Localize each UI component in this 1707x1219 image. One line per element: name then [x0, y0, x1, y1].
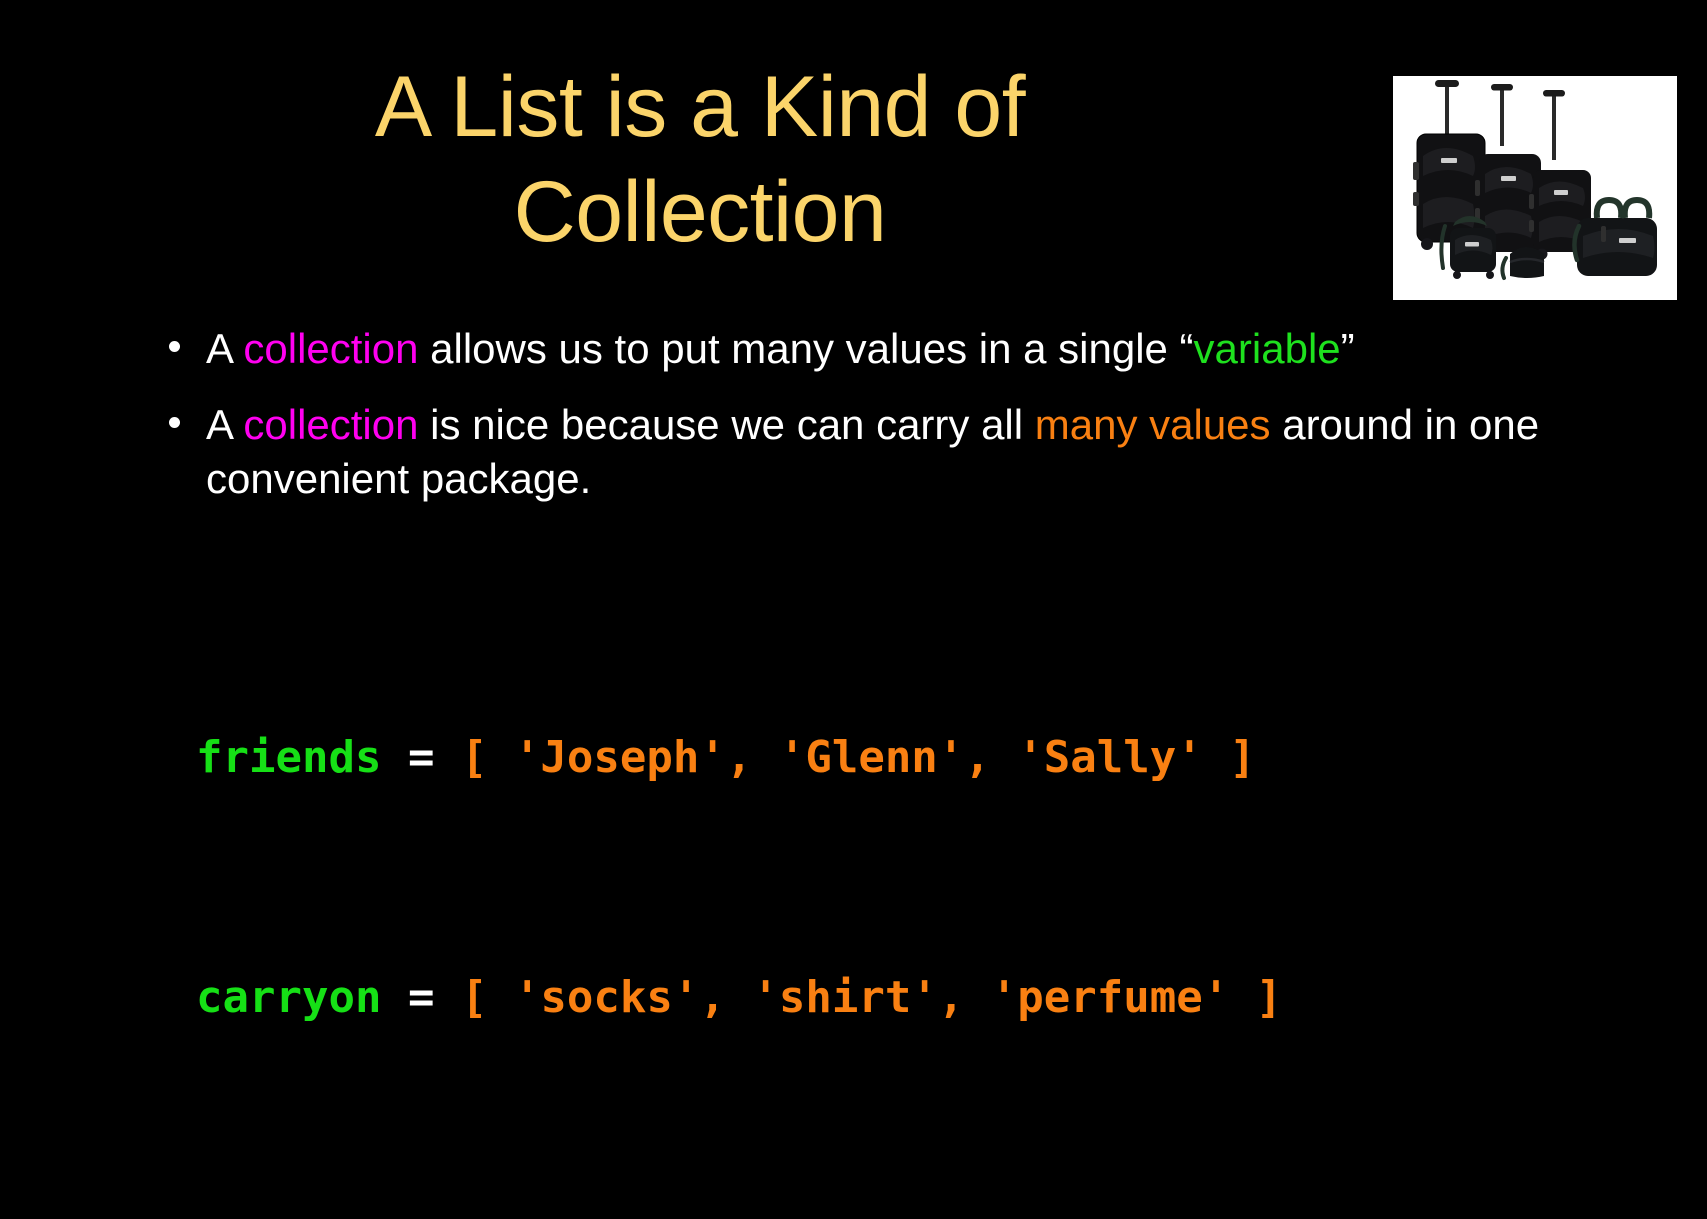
code-variable-friends: friends — [196, 732, 381, 783]
code-line-carryon: carryon = [ 'socks', 'shirt', 'perfume' … — [196, 976, 1282, 1084]
code-comma: , — [964, 732, 991, 783]
code-space — [434, 732, 461, 783]
code-close-bracket: ] — [1229, 732, 1256, 783]
bullet-1-part-0: A — [206, 325, 243, 372]
luggage-set-photo — [1393, 76, 1677, 300]
code-string-2: 'Sally' — [1017, 732, 1202, 783]
bullet-1-part-3: variable — [1194, 325, 1341, 372]
bullet-dot-icon — [169, 341, 180, 352]
code-string-0: 'socks' — [514, 972, 699, 1023]
code-variable-carryon: carryon — [196, 972, 381, 1023]
code-operator-assign: = — [408, 972, 435, 1023]
code-string-2: 'perfume' — [991, 972, 1229, 1023]
code-string-0: 'Joseph' — [514, 732, 726, 783]
code-string-1: 'shirt' — [752, 972, 937, 1023]
code-open-bracket: [ — [461, 732, 488, 783]
bullet-1-part-4: ” — [1341, 325, 1355, 372]
code-space — [1229, 972, 1256, 1023]
code-open-bracket: [ — [461, 972, 488, 1023]
code-line-friends: friends = [ 'Joseph', 'Glenn', 'Sally' ] — [196, 736, 1282, 844]
bullet-2-part-1: collection — [243, 401, 418, 448]
code-comma: , — [699, 972, 726, 1023]
code-space — [726, 972, 753, 1023]
code-operator-assign: = — [408, 732, 435, 783]
code-space — [434, 972, 461, 1023]
bullet-2-part-0: A — [206, 401, 243, 448]
bullet-list: A collection allows us to put many value… — [160, 322, 1560, 527]
bullet-dot-icon — [169, 417, 180, 428]
code-space — [991, 732, 1018, 783]
code-comma: , — [938, 972, 965, 1023]
code-comma: , — [726, 732, 753, 783]
bullet-1-part-2: allows us to put many values in a single… — [418, 325, 1193, 372]
bullet-2-part-2: is nice because we can carry all — [418, 401, 1034, 448]
slide-canvas: A List is a Kind of Collection — [0, 0, 1707, 960]
code-space — [1203, 732, 1230, 783]
list-item: A collection is nice because we can carr… — [160, 398, 1560, 506]
code-space — [381, 732, 408, 783]
bullet-2-part-3: many values — [1035, 401, 1271, 448]
page-title: A List is a Kind of Collection — [105, 55, 1295, 265]
list-item: A collection allows us to put many value… — [160, 322, 1560, 376]
code-sample: friends = [ 'Joseph', 'Glenn', 'Sally' ]… — [196, 604, 1282, 1216]
luggage-illustration — [1393, 76, 1677, 300]
code-space — [752, 732, 779, 783]
code-space — [964, 972, 991, 1023]
bullet-1-part-1: collection — [243, 325, 418, 372]
code-close-bracket: ] — [1256, 972, 1283, 1023]
code-space — [381, 972, 408, 1023]
code-space — [487, 972, 514, 1023]
code-string-1: 'Glenn' — [779, 732, 964, 783]
code-space — [487, 732, 514, 783]
